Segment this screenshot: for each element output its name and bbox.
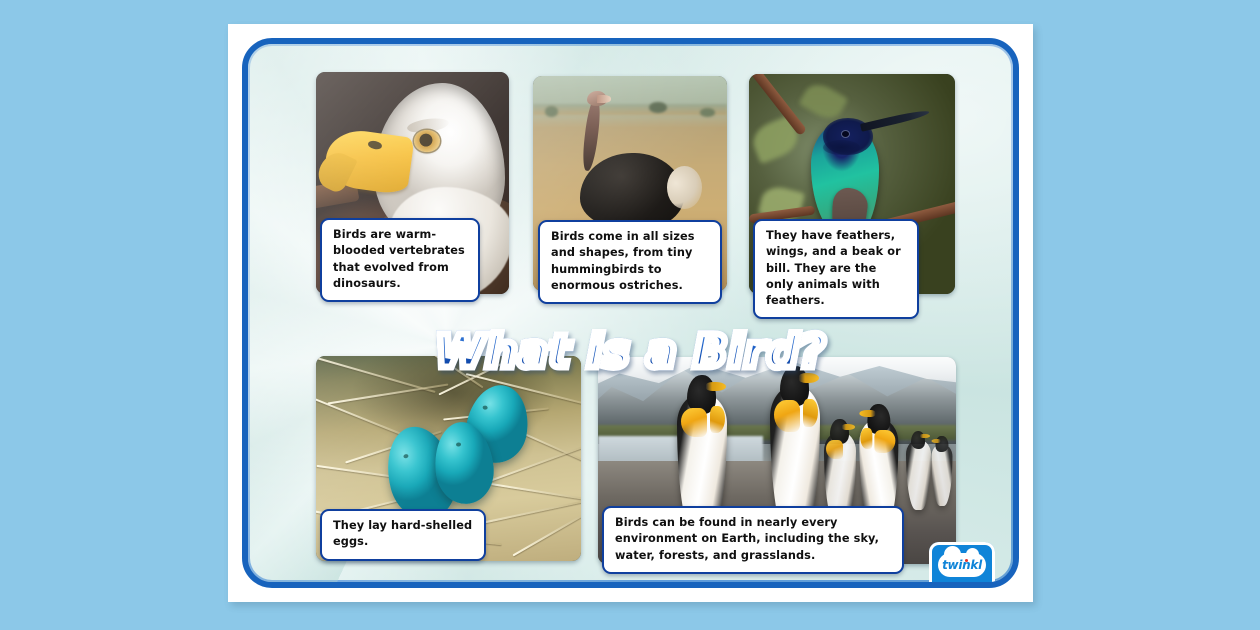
leaf-shape bbox=[798, 79, 848, 124]
caption-eagle: Birds are warm-blooded vertebrates that … bbox=[320, 218, 480, 302]
twinkl-logo[interactable]: twinkl bbox=[929, 542, 995, 588]
ostrich-bill bbox=[597, 95, 611, 102]
poster-canvas: Birds are warm-blooded vertebrates that … bbox=[248, 44, 1013, 582]
twinkl-wordmark: twinkl bbox=[942, 558, 982, 572]
caption-hummingbird: They have feathers, wings, and a beak or… bbox=[753, 219, 919, 319]
bush-shape bbox=[545, 106, 559, 117]
penguin-figure bbox=[906, 440, 931, 510]
poster-frame: Birds are warm-blooded vertebrates that … bbox=[242, 38, 1019, 588]
horizon-line bbox=[533, 104, 727, 115]
caption-penguins: Birds can be found in nearly every envir… bbox=[602, 506, 904, 574]
logo-dot-icon bbox=[965, 559, 968, 562]
bush-shape bbox=[700, 108, 716, 117]
poster-page: Birds are warm-blooded vertebrates that … bbox=[228, 24, 1033, 602]
page-title: What is a Bird? bbox=[248, 325, 1013, 378]
ostrich-tail bbox=[667, 166, 702, 209]
penguin-figure bbox=[931, 444, 952, 506]
caption-ostrich: Birds come in all sizes and shapes, from… bbox=[538, 220, 722, 304]
caption-eggs: They lay hard-shelled eggs. bbox=[320, 509, 486, 561]
bush-shape bbox=[649, 102, 666, 113]
hummingbird-bill bbox=[860, 108, 930, 131]
cloud-icon: twinkl bbox=[938, 553, 986, 577]
eagle-eye bbox=[414, 130, 439, 152]
